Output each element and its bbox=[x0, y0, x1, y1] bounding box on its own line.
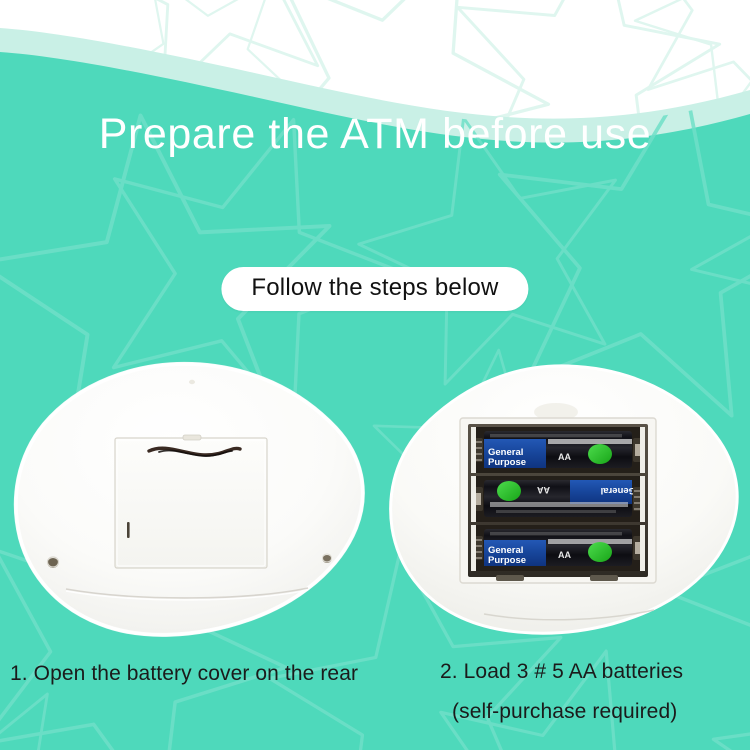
door-notch bbox=[127, 522, 130, 538]
battery-brand-line2: Purpose bbox=[488, 555, 526, 566]
step-1-photo bbox=[0, 352, 378, 652]
battery-cover-door bbox=[115, 435, 267, 568]
battery-green-accent bbox=[497, 481, 521, 501]
page-title: Prepare the ATM before use bbox=[0, 110, 750, 158]
compartment-latch-left bbox=[496, 575, 524, 581]
battery-slot-3: General Purpose AA bbox=[471, 525, 645, 571]
battery-green-accent bbox=[588, 444, 612, 464]
battery-brand-line2: Purpose bbox=[488, 457, 526, 468]
step-2-caption: 2. Load 3 # 5 AA batteries bbox=[440, 660, 683, 684]
follow-steps-pill: Follow the steps below bbox=[221, 267, 528, 311]
battery-size-label: AA bbox=[558, 550, 571, 560]
battery-size-label: AA bbox=[537, 485, 550, 495]
battery-slot-1: General Purpose AA bbox=[471, 427, 645, 473]
battery-size-label: AA bbox=[558, 452, 571, 462]
step-1-caption: 1. Open the battery cover on the rear bbox=[10, 662, 358, 686]
battery-slot-2: General AA bbox=[471, 476, 645, 522]
battery-green-accent bbox=[588, 542, 612, 562]
compartment-latch-right bbox=[590, 575, 618, 581]
product-infographic-page: Prepare the ATM before use Follow the st… bbox=[0, 0, 750, 750]
battery-compartment: General Purpose AA bbox=[460, 418, 656, 583]
top-vent-mark bbox=[189, 380, 195, 384]
step-2-photo: General Purpose AA bbox=[372, 352, 750, 652]
step-2-caption-line2: (self-purchase required) bbox=[452, 700, 677, 724]
battery-brand-line1: General bbox=[601, 485, 636, 496]
door-latch-tab bbox=[183, 435, 201, 440]
